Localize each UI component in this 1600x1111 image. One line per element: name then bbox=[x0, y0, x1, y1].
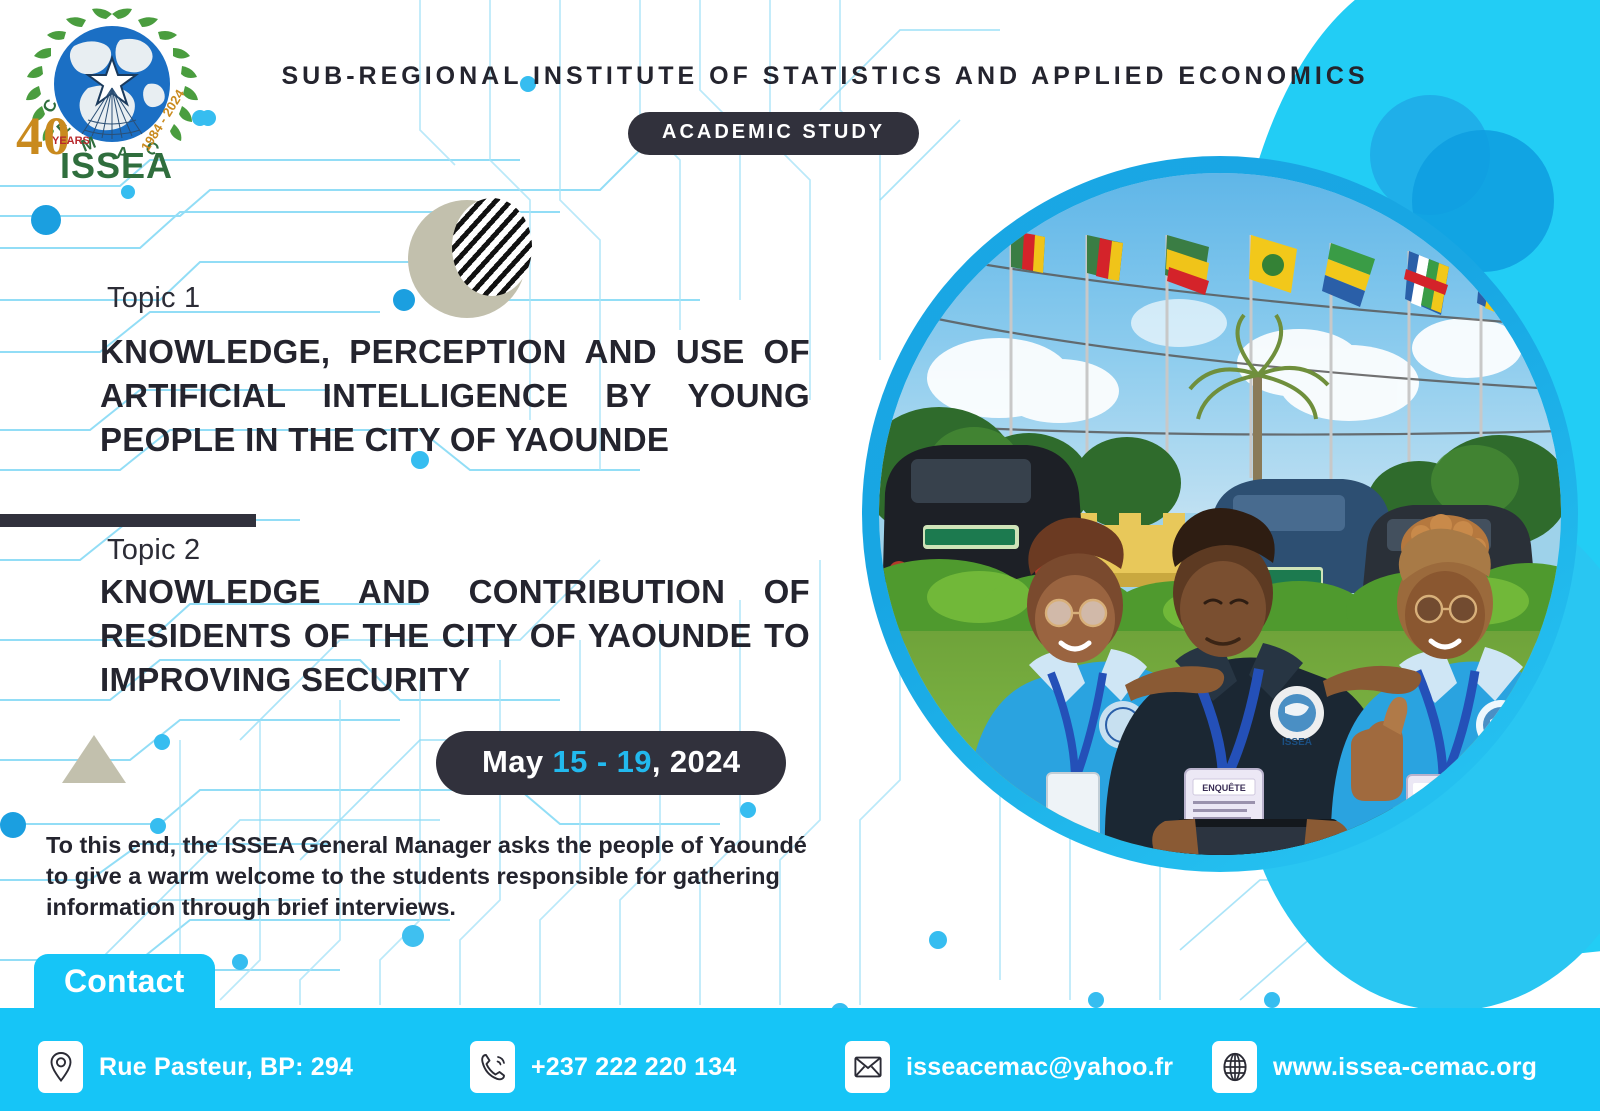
poster-root: C E M A C 40 YEARS 1984 - 2024 ISSEA SUB… bbox=[0, 0, 1600, 1111]
issea-cemac-logo: C E M A C 40 YEARS 1984 - 2024 ISSEA bbox=[8, 2, 213, 182]
location-pin-icon bbox=[38, 1041, 83, 1093]
section-divider-bar bbox=[0, 514, 256, 527]
topic-2-title: KNOWLEDGE AND CONTRIBUTION OF RESIDENTS … bbox=[100, 570, 810, 702]
photo-illustration: ISSEA ENQUÊTE bbox=[879, 173, 1561, 855]
date-day-end: 19 bbox=[617, 744, 652, 779]
contact-phone-text: +237 222 220 134 bbox=[531, 1053, 736, 1082]
phone-icon bbox=[470, 1041, 515, 1093]
svg-text:ISSEA: ISSEA bbox=[60, 145, 173, 182]
date-month: May bbox=[482, 744, 544, 779]
contact-address-text: Rue Pasteur, BP: 294 bbox=[99, 1053, 353, 1082]
institute-title: SUB-REGIONAL INSTITUTE OF STATISTICS AND… bbox=[270, 62, 1380, 91]
khaki-triangle-decoration bbox=[62, 735, 126, 783]
photo-circle-frame: ISSEA ENQUÊTE bbox=[862, 156, 1578, 872]
date-day-start: 15 bbox=[553, 744, 588, 779]
date-year: , 2024 bbox=[652, 744, 741, 779]
accent-dot-topic1 bbox=[393, 289, 415, 311]
accent-dot-large bbox=[31, 205, 61, 235]
contact-item-email[interactable]: isseacemac@yahoo.fr bbox=[845, 1041, 1173, 1093]
academic-study-badge: ACADEMIC STUDY bbox=[628, 112, 919, 155]
contact-item-phone[interactable]: +237 222 220 134 bbox=[470, 1041, 736, 1093]
accent-dot-mid bbox=[0, 812, 26, 838]
contact-email-text: isseacemac@yahoo.fr bbox=[906, 1053, 1173, 1082]
student-survey-photo: ISSEA ENQUÊTE bbox=[879, 173, 1561, 855]
contact-heading: Contact bbox=[34, 954, 215, 1008]
event-date-badge: May 15 - 19, 2024 bbox=[436, 731, 786, 795]
contact-item-website[interactable]: www.issea-cemac.org bbox=[1212, 1041, 1537, 1093]
accent-dot-paragraph bbox=[402, 925, 424, 947]
globe-icon bbox=[1212, 1041, 1257, 1093]
date-separator: - bbox=[597, 744, 608, 779]
topic-1-title: KNOWLEDGE, PERCEPTION AND USE OF ARTIFIC… bbox=[100, 330, 810, 462]
topic-1-label: Topic 1 bbox=[107, 282, 200, 315]
svg-text:ISSEA: ISSEA bbox=[1282, 737, 1312, 748]
contact-item-address[interactable]: Rue Pasteur, BP: 294 bbox=[38, 1041, 353, 1093]
logo-graphic: C E M A C 40 YEARS 1984 - 2024 ISSEA bbox=[8, 2, 213, 182]
svg-text:ENQUÊTE: ENQUÊTE bbox=[1202, 782, 1246, 793]
body-paragraph: To this end, the ISSEA General Manager a… bbox=[46, 830, 821, 923]
topic-2-label: Topic 2 bbox=[107, 534, 200, 567]
contact-website-text: www.issea-cemac.org bbox=[1273, 1053, 1537, 1082]
envelope-icon bbox=[845, 1041, 890, 1093]
striped-circle-decoration bbox=[452, 198, 532, 296]
